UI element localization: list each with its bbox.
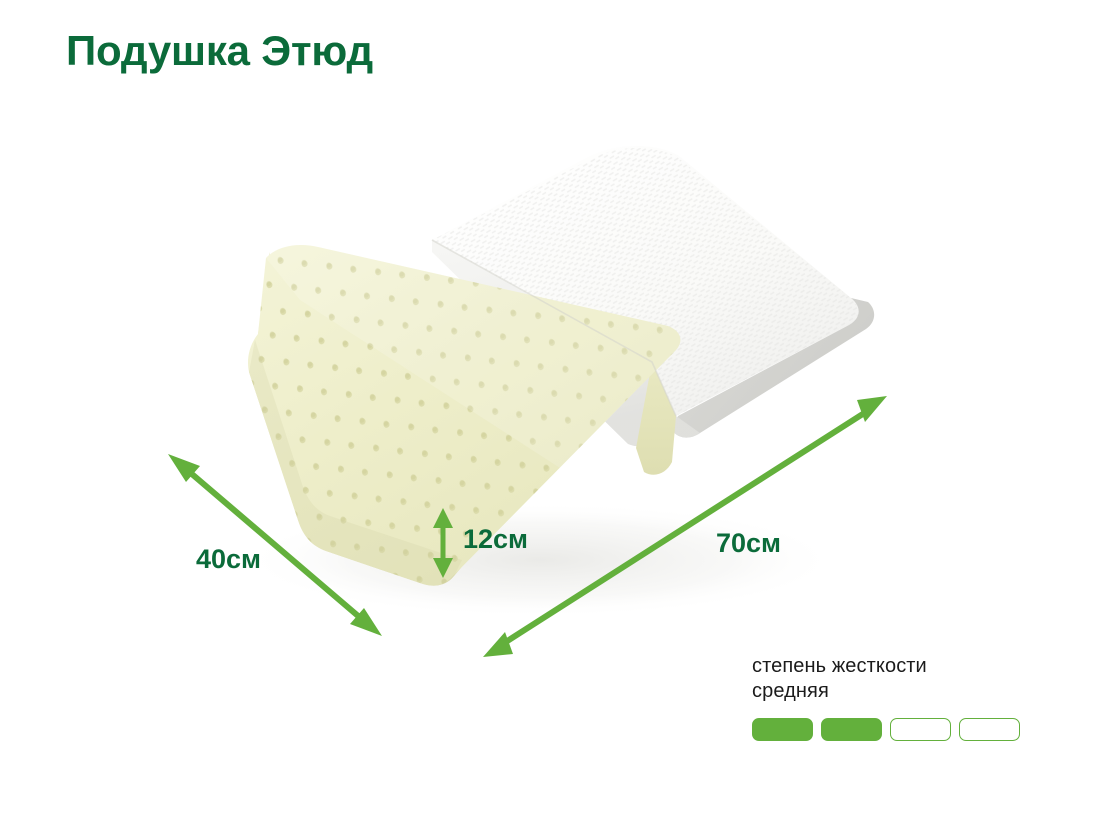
dimension-label-length: 70см	[716, 528, 781, 559]
dimension-label-height: 12см	[463, 524, 528, 555]
firmness-level-4	[959, 718, 1020, 741]
firmness-indicator: степень жесткости средняя	[752, 654, 1024, 741]
dimension-arrow-70	[483, 396, 887, 657]
firmness-caption-line-1: степень жесткости	[752, 654, 1024, 679]
pillow-foam-right-side	[636, 362, 676, 475]
product-shadow	[240, 502, 840, 618]
product-infographic-page: Подушка Этюд	[0, 0, 1100, 814]
foam-cover-seam	[432, 240, 676, 416]
firmness-caption-line-2: средняя	[752, 679, 1024, 704]
pillow-cover-front	[432, 240, 700, 446]
firmness-caption: степень жесткости средняя	[752, 654, 1024, 704]
foam-front-shading	[249, 340, 462, 586]
firmness-level-3	[890, 718, 951, 741]
dimension-arrow-12	[433, 508, 453, 578]
foam-highlight	[266, 245, 680, 468]
dimension-label-depth: 40см	[196, 544, 261, 575]
pillow-cover-top	[432, 146, 859, 416]
firmness-scale	[752, 718, 1024, 741]
pillow-foam-front-face	[249, 252, 476, 586]
page-title: Подушка Этюд	[66, 27, 373, 75]
pillow-cover-edge	[672, 298, 874, 438]
firmness-level-2	[821, 718, 882, 741]
firmness-level-1	[752, 718, 813, 741]
